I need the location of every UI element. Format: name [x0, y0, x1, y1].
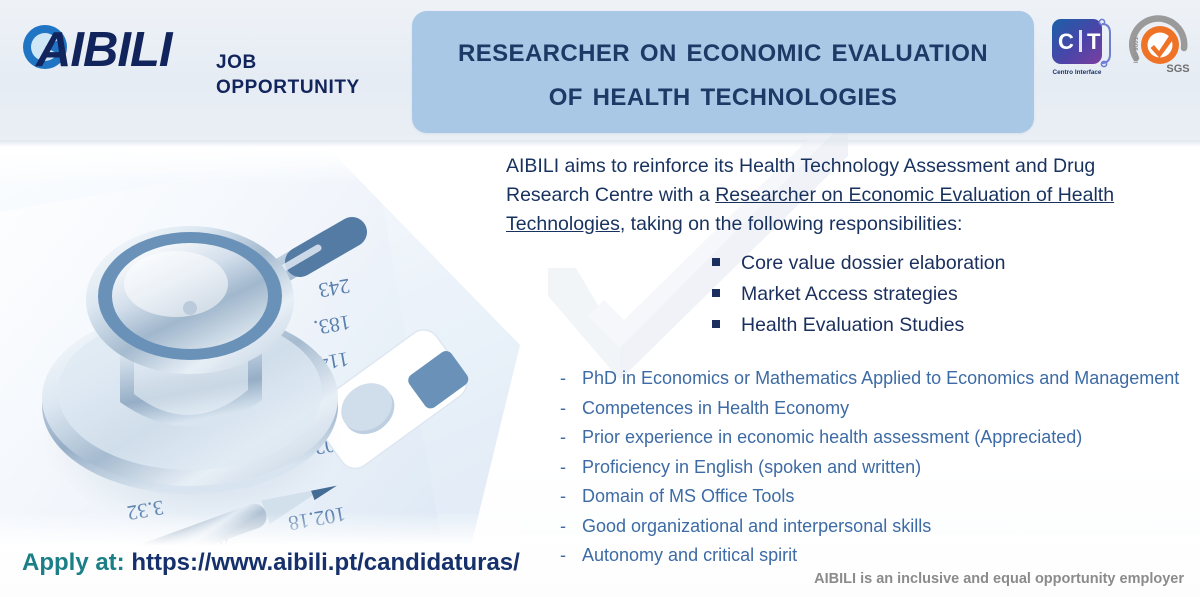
requirements-list: - PhD in Economics or Mathematics Applie…	[560, 368, 1185, 575]
requirement-label: PhD in Economics or Mathematics Applied …	[582, 368, 1179, 388]
requirement-label: Competences in Health Economy	[582, 398, 849, 418]
list-item: Health Evaluation Studies	[712, 314, 1172, 336]
intro-after: , taking on the following responsibiliti…	[620, 213, 963, 235]
job-advert-poster: 102.18 45 3.32 1.16 3.48 102.42 94.95 10…	[0, 0, 1200, 597]
list-item: - Competences in Health Economy	[560, 398, 1185, 418]
job-title-line-1: Researcher on Economic Evaluation	[458, 28, 988, 72]
cit-logo-icon: C T Centro Interface	[1046, 14, 1116, 80]
svg-text:ISO 9001: ISO 9001	[1133, 36, 1140, 63]
requirement-label: Proficiency in English (spoken and writt…	[582, 457, 921, 477]
svg-text:Centro Interface: Centro Interface	[1052, 69, 1101, 76]
responsibility-label: Core value dossier elaboration	[741, 252, 1006, 274]
list-item: - PhD in Economics or Mathematics Applie…	[560, 368, 1185, 388]
requirement-label: Good organizational and interpersonal sk…	[582, 516, 931, 536]
apply-url-link[interactable]: https://www.aibili.pt/candidaturas/	[131, 549, 519, 576]
responsibilities-list: Core value dossier elaboration Market Ac…	[712, 252, 1172, 345]
square-bullet-icon	[712, 289, 720, 297]
dash-bullet-icon: -	[560, 545, 582, 565]
square-bullet-icon	[712, 320, 720, 328]
list-item: - Proficiency in English (spoken and wri…	[560, 457, 1185, 477]
requirement-label: Autonomy and critical spirit	[582, 545, 797, 565]
dash-bullet-icon: -	[560, 368, 582, 388]
dash-bullet-icon: -	[560, 457, 582, 477]
list-item: - Domain of MS Office Tools	[560, 486, 1185, 506]
opportunity-label: OPPORTUNITY	[216, 75, 360, 100]
requirement-label: Domain of MS Office Tools	[582, 486, 794, 506]
list-item: Market Access strategies	[712, 283, 1172, 305]
dash-bullet-icon: -	[560, 516, 582, 536]
header-band-edge	[0, 140, 1200, 147]
responsibility-label: Health Evaluation Studies	[741, 314, 964, 336]
apply-label: Apply at:	[22, 549, 125, 576]
list-item: - Good organizational and interpersonal …	[560, 516, 1185, 536]
svg-text:T: T	[1087, 29, 1101, 54]
job-title-line-2: of Health Technologies	[549, 72, 898, 116]
requirement-label: Prior experience in economic health asse…	[582, 427, 1082, 447]
dash-bullet-icon: -	[560, 398, 582, 418]
responsibility-label: Market Access strategies	[741, 283, 958, 305]
job-opportunity-label: JOB OPPORTUNITY	[216, 50, 360, 100]
job-label: JOB	[216, 52, 257, 73]
sgs-certification-icon: ISO 9001 SGS	[1126, 14, 1192, 80]
equal-opportunity-statement: AIBILI is an inclusive and equal opportu…	[814, 571, 1184, 587]
dash-bullet-icon: -	[560, 486, 582, 506]
aibili-logo: AIBILI JOB OPPORTUNITY	[18, 14, 360, 100]
dash-bullet-icon: -	[560, 427, 582, 447]
list-item: Core value dossier elaboration	[712, 252, 1172, 274]
intro-paragraph: AIBILI aims to reinforce its Health Tech…	[506, 152, 1178, 239]
list-item: - Autonomy and critical spirit	[560, 545, 1185, 565]
certification-logos: C T Centro Interface ISO 9001 SGS	[1046, 14, 1192, 80]
svg-text:AIBILI: AIBILI	[35, 23, 174, 77]
svg-text:C: C	[1058, 29, 1074, 54]
list-item: - Prior experience in economic health as…	[560, 427, 1185, 447]
square-bullet-icon	[712, 258, 720, 266]
apply-line: Apply at: https://www.aibili.pt/candidat…	[22, 549, 520, 577]
aibili-wordmark-icon: AIBILI	[18, 14, 210, 86]
job-title-banner: Researcher on Economic Evaluation of Hea…	[412, 11, 1034, 133]
svg-text:SGS: SGS	[1166, 63, 1189, 75]
